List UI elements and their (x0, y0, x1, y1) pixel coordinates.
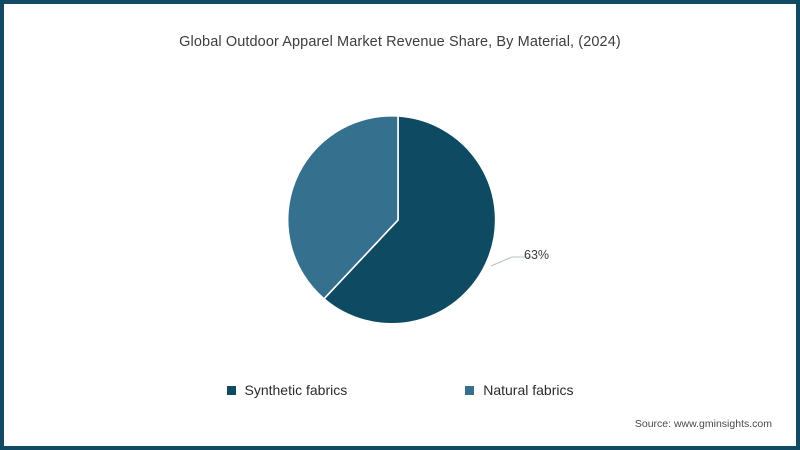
legend-swatch-icon (465, 386, 474, 395)
pie-data-label-synthetic-fabrics: 63% (524, 248, 549, 262)
legend-swatch-icon (227, 386, 236, 395)
pie-chart-svg (4, 4, 796, 446)
legend-label-synthetic-fabrics: Synthetic fabrics (245, 382, 348, 398)
legend-item-synthetic-fabrics[interactable]: Synthetic fabrics (227, 382, 348, 398)
pie-plot-area: 63% (4, 4, 796, 446)
figure-canvas: Global Outdoor Apparel Market Revenue Sh… (4, 4, 796, 446)
legend-label-natural-fabrics: Natural fabrics (483, 382, 573, 398)
legend-item-natural-fabrics[interactable]: Natural fabrics (465, 382, 573, 398)
chart-legend: Synthetic fabrics Natural fabrics (4, 382, 796, 398)
chart-figure: Global Outdoor Apparel Market Revenue Sh… (0, 0, 800, 450)
source-attribution: Source: www.gminsights.com (635, 418, 772, 430)
